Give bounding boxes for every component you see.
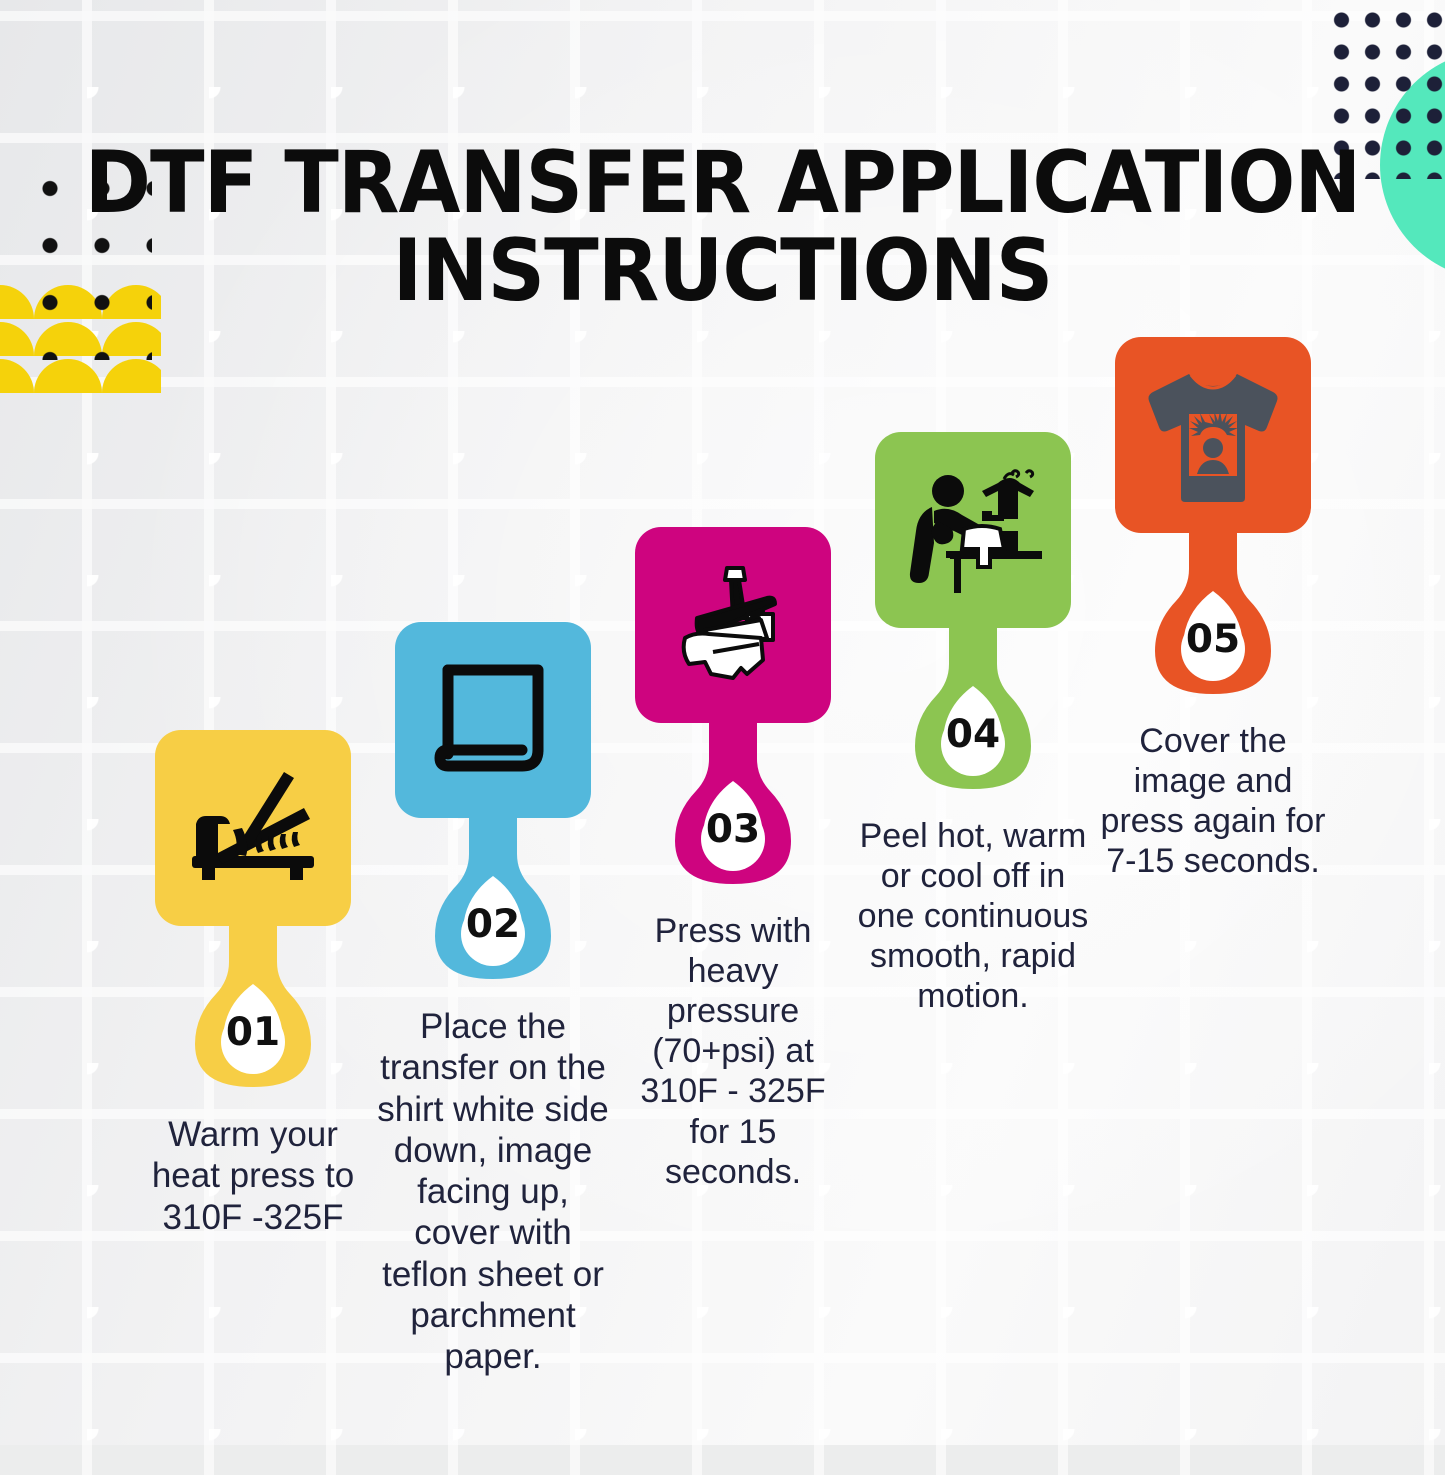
- step-connector-01: 01: [133, 924, 373, 1102]
- heat-press-machine-icon: [669, 562, 797, 688]
- step-caption-02: Place the transfer on the shirt white si…: [373, 1006, 613, 1378]
- steps-container: 01 Warm your heat press to 310F -325F 02…: [0, 0, 1445, 1445]
- step-card-01: [155, 730, 351, 926]
- step-connector-02: 02: [373, 816, 613, 994]
- step-card-03: [635, 527, 831, 723]
- step-number-03: 03: [613, 807, 853, 852]
- step-item-04: 04 Peel hot, warm or cool off in one con…: [853, 432, 1093, 1017]
- step-caption-03: Press with heavy pressure (70+psi) at 31…: [613, 911, 853, 1192]
- step-connector-04: 04: [853, 626, 1093, 804]
- step-caption-05: Cover the image and press again for 7-15…: [1093, 721, 1333, 881]
- step-number-02: 02: [373, 902, 613, 947]
- printed-tshirt-icon: [1139, 368, 1287, 502]
- heat-press-open-icon: [186, 768, 320, 888]
- step-card-02: [395, 622, 591, 818]
- person-peeling-transfer-icon: [904, 467, 1042, 593]
- step-item-01: 01 Warm your heat press to 310F -325F: [133, 730, 373, 1238]
- step-connector-03: 03: [613, 721, 853, 899]
- step-card-05: [1115, 337, 1311, 533]
- step-item-05: 05 Cover the image and press again for 7…: [1093, 337, 1333, 881]
- step-card-04: [875, 432, 1071, 628]
- step-item-03: 03 Press with heavy pressure (70+psi) at…: [613, 527, 853, 1192]
- step-item-02: 02 Place the transfer on the shirt white…: [373, 622, 613, 1378]
- step-number-05: 05: [1093, 617, 1333, 662]
- step-caption-04: Peel hot, warm or cool off in one contin…: [853, 816, 1093, 1017]
- step-number-01: 01: [133, 1010, 373, 1055]
- step-connector-05: 05: [1093, 531, 1333, 709]
- step-caption-01: Warm your heat press to 310F -325F: [133, 1114, 373, 1238]
- curled-transfer-sheet-icon: [434, 662, 552, 778]
- step-number-04: 04: [853, 712, 1093, 757]
